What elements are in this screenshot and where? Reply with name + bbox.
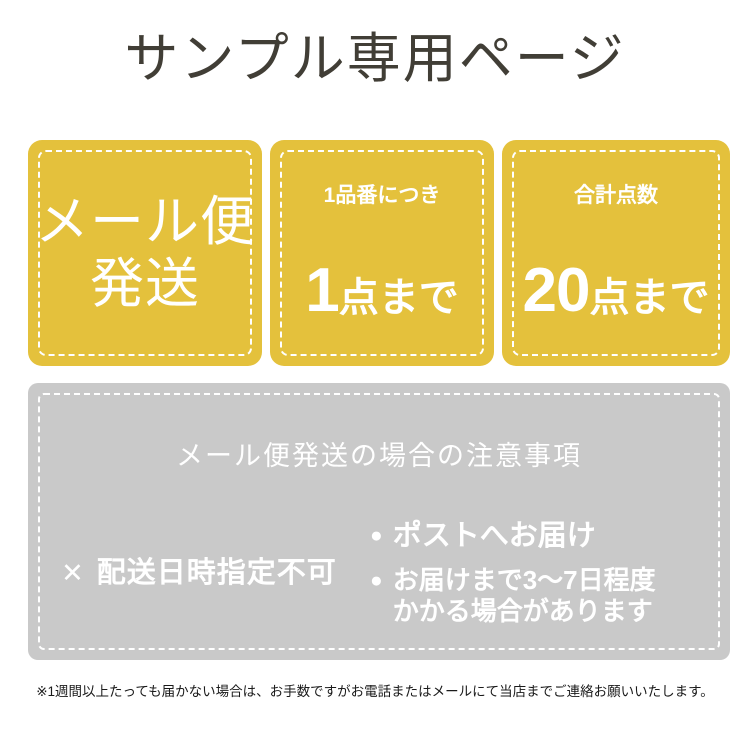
notice-restriction: ✕ 配送日時指定不可 — [28, 556, 370, 590]
list-item-line2: かかる場合があります — [393, 596, 656, 627]
card-shipping-method-content: メール便 発送 — [28, 191, 262, 315]
list-item: ● ポストへお届け — [370, 519, 730, 553]
list-item: ● お届けまで3〜7日程度 かかる場合があります — [370, 565, 730, 627]
card-per-item-limit-unit: 点まで — [339, 276, 459, 320]
page-title: サンプル専用ページ — [0, 26, 750, 92]
card-per-item-limit: 1品番につき 1点まで — [270, 140, 494, 366]
card-total-limit-unit: 点まで — [589, 276, 709, 320]
notice-bullet-list: ● ポストへお届け ● お届けまで3〜7日程度 かかる場合があります — [370, 519, 730, 627]
list-item-text: お届けまで3〜7日程度 かかる場合があります — [393, 565, 656, 627]
card-spacer — [270, 208, 494, 260]
card-per-item-limit-caption: 1品番につき — [270, 184, 494, 208]
card-per-item-limit-number: 1 — [305, 256, 338, 325]
card-shipping-method: メール便 発送 — [28, 140, 262, 366]
list-item-line1: お届けまで3〜7日程度 — [393, 565, 656, 595]
card-shipping-method-line2: 発送 — [28, 253, 262, 315]
list-item-line1: ポストへお届け — [393, 520, 596, 552]
card-total-limit-content: 合計点数 20点まで — [502, 184, 730, 322]
notice-restriction-label: 配送日時指定不可 — [97, 556, 337, 590]
card-spacer — [502, 208, 730, 260]
info-cards-row: メール便 発送 1品番につき 1点まで 合計点数 20点まで — [28, 140, 730, 366]
notice-panel: メール便発送の場合の注意事項 ✕ 配送日時指定不可 ● ポストへお届け ● お届… — [28, 383, 730, 660]
notice-body: ✕ 配送日時指定不可 ● ポストへお届け ● お届けまで3〜7日程度 かかる場合… — [28, 508, 730, 638]
card-total-limit-caption: 合計点数 — [502, 184, 730, 208]
x-mark-icon: ✕ — [61, 556, 85, 590]
bullet-dot-icon: ● — [370, 519, 383, 553]
card-per-item-limit-content: 1品番につき 1点まで — [270, 184, 494, 322]
bullet-dot-icon: ● — [370, 565, 383, 596]
card-per-item-limit-amount: 1点まで — [270, 260, 494, 322]
card-total-limit-amount: 20点まで — [502, 260, 730, 322]
footer-note: ※1週間以上たっても届かない場合は、お手数ですがお電話またはメールにて当店までご… — [0, 682, 750, 702]
card-total-limit-number: 20 — [523, 256, 590, 325]
card-shipping-method-line1: メール便 — [28, 191, 262, 253]
card-total-limit: 合計点数 20点まで — [502, 140, 730, 366]
list-item-text: ポストへお届け — [393, 519, 596, 553]
notice-heading: メール便発送の場合の注意事項 — [28, 440, 730, 472]
